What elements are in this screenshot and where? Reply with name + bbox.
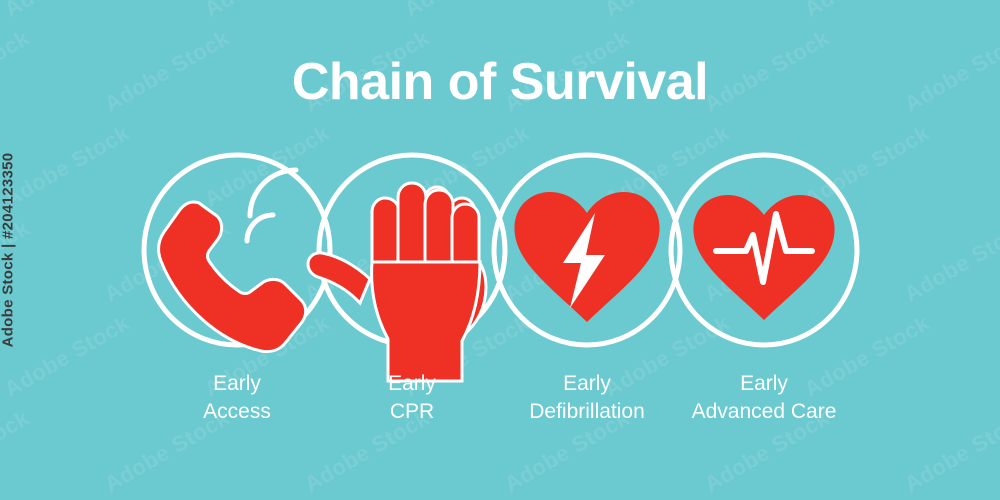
step-label-line1: Early — [203, 370, 271, 398]
chain-link-3[interactable] — [494, 155, 680, 345]
step-label-early-cpr: Early CPR — [388, 370, 436, 427]
phone-handset-shape — [159, 202, 306, 352]
chain-link-4[interactable] — [671, 155, 857, 345]
step-label-line2: Defibrillation — [529, 398, 645, 426]
step-label-line1: Early — [692, 370, 837, 398]
heart-lightning-bolt-icon — [514, 192, 659, 322]
step-label-line2: CPR — [388, 398, 436, 426]
cpr-hands-icon — [308, 183, 486, 381]
step-label-line2: Access — [203, 398, 271, 426]
step-label-line2: Advanced Care — [692, 398, 837, 426]
step-label-early-access: Early Access — [203, 370, 271, 427]
heart-shape-ecg — [693, 195, 834, 320]
step-label-early-defibrillation: Early Defibrillation — [529, 370, 645, 427]
step-labels: Early Access Early CPR Early Defibrillat… — [0, 370, 1000, 440]
front-hand-palm-wrist — [372, 262, 480, 381]
signal-arc-inner — [247, 215, 273, 241]
step-label-line1: Early — [529, 370, 645, 398]
chain-of-survival-poster: Adobe StockAdobe StockAdobe StockAdobe S… — [0, 0, 1000, 500]
chain-link-1[interactable] — [144, 155, 330, 352]
heart-ecg-pulse-icon — [693, 195, 834, 320]
front-finger-2 — [398, 183, 426, 274]
step-label-early-advanced-care: Early Advanced Care — [692, 370, 837, 427]
signal-arc-outer — [250, 170, 296, 216]
chain-link-2[interactable] — [308, 155, 505, 381]
stock-credit-label: Adobe Stock | #204123350 — [0, 153, 17, 348]
step-label-line1: Early — [388, 370, 436, 398]
